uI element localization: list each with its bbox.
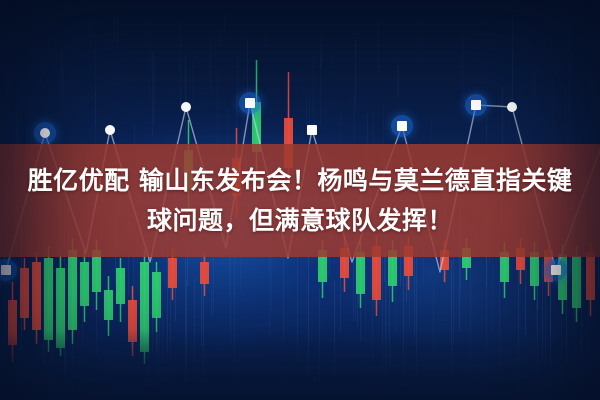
headline-block: 胜亿优配 输山东发布会！杨鸣与莫兰德直指关键 球问题，但满意球队发挥！ [0, 144, 600, 257]
promo-banner: 胜亿优配 输山东发布会！杨鸣与莫兰德直指关键 球问题，但满意球队发挥！ [0, 0, 600, 400]
headline-line-1: 胜亿优配 输山东发布会！杨鸣与莫兰德直指关键 [28, 164, 573, 198]
headline-line-2: 球问题，但满意球队发挥！ [147, 204, 453, 238]
